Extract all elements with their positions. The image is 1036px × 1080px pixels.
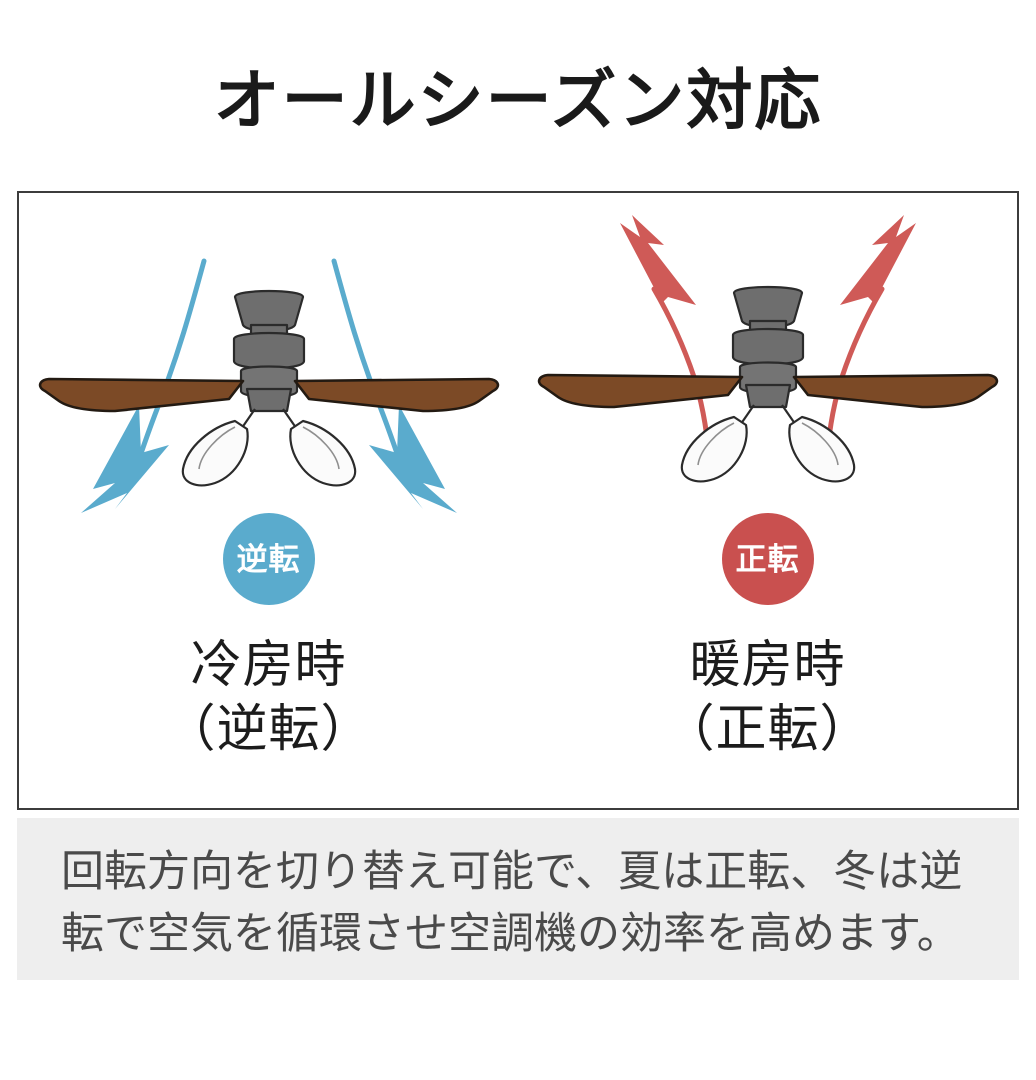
panel-label-line1: 暖房時 (518, 633, 1017, 697)
ceiling-fan-heating-illustration (528, 201, 1008, 511)
diagram-panel: 逆転 冷房時 （逆転） (17, 191, 1019, 810)
badge-label: 正転 (736, 544, 800, 575)
panel-label-line1: 冷房時 (19, 633, 518, 697)
badge-label: 逆転 (237, 544, 301, 575)
description-line1: 回転方向を切り替え可能で、夏は正転、冬は逆 (61, 842, 975, 904)
page-title: オールシーズン対応 (0, 62, 1036, 142)
panel-label-line2: （正転） (518, 697, 1017, 761)
product-feature-infographic: オールシーズン対応 (0, 0, 1036, 1080)
airflow-arrow-left (620, 215, 696, 305)
panel-label-cooling: 冷房時 （逆転） (19, 633, 518, 761)
panel-label-heating: 暖房時 （正転） (518, 633, 1017, 761)
description-panel: 回転方向を切り替え可能で、夏は正転、冬は逆 転で空気を循環させ空調機の効率を高め… (17, 818, 1019, 980)
badge-forward-rotation: 正転 (722, 513, 814, 605)
airflow-arrow-right (369, 405, 457, 513)
description-line2: 転で空気を循環させ空調機の効率を高めます。 (61, 904, 975, 966)
ceiling-fan-cooling-illustration (29, 221, 509, 531)
panel-cooling: 逆転 冷房時 （逆転） (19, 193, 518, 808)
diagram-columns: 逆転 冷房時 （逆転） (19, 193, 1017, 808)
airflow-arrow-right (840, 215, 916, 305)
badge-reverse-rotation: 逆転 (223, 513, 315, 605)
panel-label-line2: （逆転） (19, 697, 518, 761)
panel-heating: 正転 暖房時 （正転） (518, 193, 1017, 808)
airflow-arrow-left (81, 405, 169, 513)
